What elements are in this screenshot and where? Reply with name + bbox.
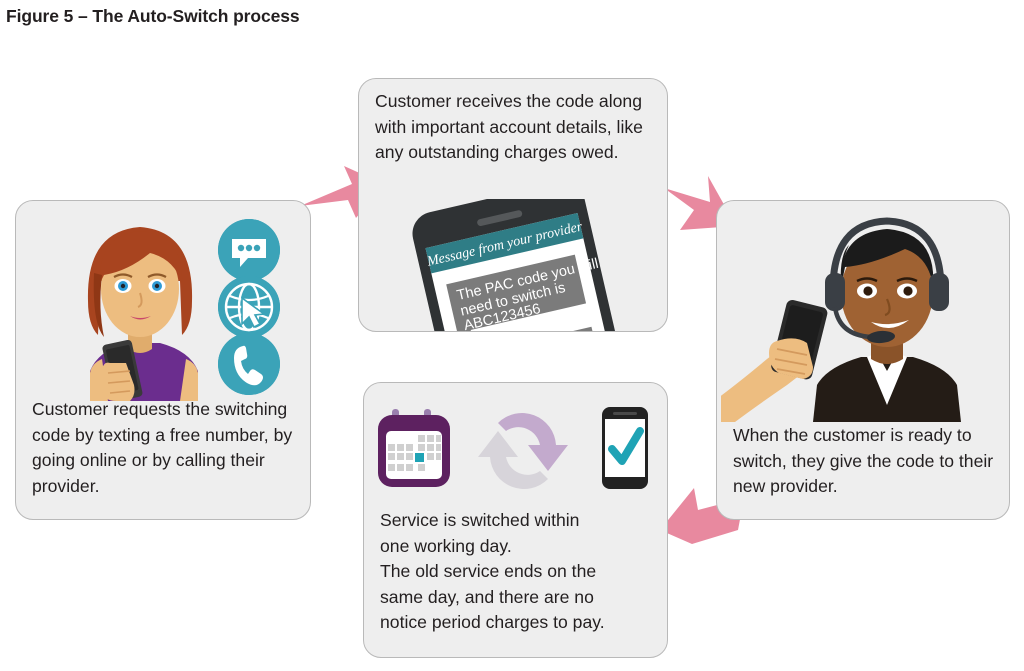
step-4-line-4: same day, and there are no [380, 585, 657, 611]
call-centre-agent-illustration [721, 207, 1010, 422]
step-3-text: When the customer is ready to switch, th… [733, 423, 999, 500]
globe-cursor-icon [218, 276, 280, 338]
step-card-3: When the customer is ready to switch, th… [716, 200, 1010, 520]
step-4-line-2: one working day. [380, 534, 657, 560]
step-4-text: Service is switched within one working d… [380, 508, 657, 636]
step-card-2: Customer receives the code along with im… [358, 78, 668, 332]
woman-with-phone-illustration [64, 213, 216, 401]
switch-icons-row [374, 401, 659, 501]
phone-check-icon [602, 407, 648, 489]
calendar-icon [378, 409, 450, 487]
step-card-1: Customer requests the switching code by … [15, 200, 311, 520]
step-1-text: Customer requests the switching code by … [32, 397, 300, 499]
step-2-text: Customer receives the code along with im… [375, 89, 657, 166]
step-4-line-3: The old service ends on the [380, 559, 657, 585]
figure-title: Figure 5 – The Auto-Switch process [6, 6, 300, 27]
sync-arrows-icon [478, 413, 568, 489]
contact-method-icons [218, 219, 290, 395]
step-4-line-1: Service is switched within [380, 508, 657, 534]
telephone-handset-icon [218, 333, 280, 395]
smartphone-sms-illustration: Message from your provider The PAC code … [381, 199, 649, 332]
chat-bubble-icon [218, 219, 280, 281]
step-4-line-5: notice period charges to pay. [380, 610, 657, 636]
step-card-4: Service is switched within one working d… [363, 382, 668, 658]
